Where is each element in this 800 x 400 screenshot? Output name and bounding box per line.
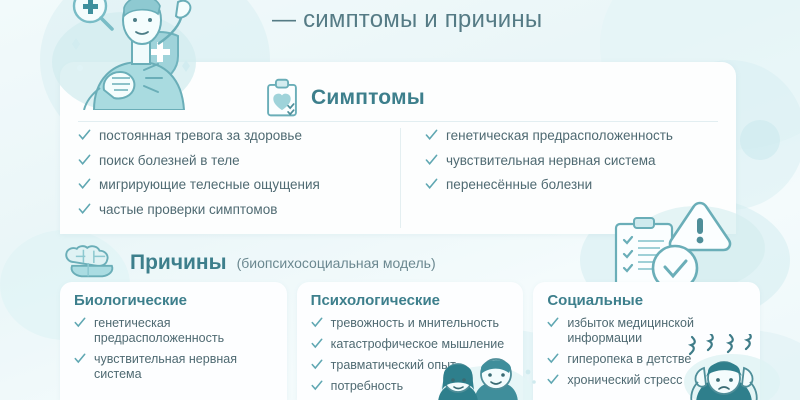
causes-cards: Биологические генетическая предрасположе… — [60, 282, 760, 400]
check-icon — [311, 380, 323, 392]
list-item-label: генетическая предрасположенность — [94, 316, 273, 346]
causes-section-header: Причины (биопсихосоциальная модель) — [62, 245, 436, 281]
brain-icon — [62, 245, 120, 281]
list-item: генетическая предрасположенность — [74, 316, 273, 346]
worried-man-chest-pain-illustration — [32, 0, 212, 110]
list-item: мигрирующие телесные ощущения — [78, 177, 400, 193]
list-item-label: хронический стресс — [567, 373, 682, 388]
check-icon — [425, 178, 438, 191]
stressed-person-illustration — [676, 334, 788, 400]
check-icon — [78, 178, 91, 191]
list-item-label: катастрофическое мышление — [331, 337, 505, 352]
symptoms-section-header: Симптомы — [265, 78, 425, 118]
list-item: постоянная тревога за здоровье — [78, 128, 400, 144]
list-item: катастрофическое мышление — [311, 337, 510, 352]
list-item-label: мигрирующие телесные ощущения — [99, 177, 320, 193]
list-item-label: чувствительная нервная система — [94, 352, 273, 382]
clipboard-checklist-warning-illustration — [602, 196, 777, 296]
list-item: тревожность и мнительность — [311, 316, 510, 331]
check-icon — [311, 317, 323, 329]
list-item: чувствительная нервная система — [74, 352, 273, 382]
check-icon — [311, 359, 323, 371]
check-icon — [74, 317, 86, 329]
check-icon — [425, 129, 438, 142]
list-item-label: частые проверки симптомов — [99, 202, 277, 218]
causes-header-note: (биопсихосоциальная модель) — [237, 255, 436, 271]
list-item-label: чувствительная нервная система — [446, 153, 656, 169]
check-icon — [547, 317, 559, 329]
list-item-label: тревожность и мнительность — [331, 316, 499, 331]
symptoms-header-label: Симптомы — [311, 86, 425, 110]
clipboard-heart-icon — [265, 78, 299, 118]
list-item: чувствительная нервная система — [425, 153, 736, 169]
check-icon — [311, 338, 323, 350]
list-item: перенесённые болезни — [425, 177, 736, 193]
cause-card-title: Социальные — [547, 292, 746, 309]
list-item-label: постоянная тревога за здоровье — [99, 128, 302, 144]
list-item: генетическая предрасположенность — [425, 128, 736, 144]
symptoms-left-column: постоянная тревога за здоровье поиск бол… — [60, 128, 400, 228]
cause-card-title: Психологические — [311, 292, 510, 309]
symptoms-divider — [78, 121, 718, 122]
check-icon — [547, 374, 559, 386]
infographic-canvas: — симптомы и причины — [0, 0, 800, 400]
couple-illustration — [424, 352, 544, 400]
list-item: частые проверки симптомов — [78, 202, 400, 218]
cause-card-biological: Биологические генетическая предрасположе… — [60, 282, 287, 400]
list-item-label: генетическая предрасположенность — [446, 128, 673, 144]
check-icon — [547, 353, 559, 365]
check-icon — [78, 154, 91, 167]
check-icon — [78, 129, 91, 142]
list-item-label: гиперопека в детстве — [567, 352, 691, 367]
background-blob — [740, 120, 780, 160]
list-item: поиск болезней в теле — [78, 153, 400, 169]
list-item-label: потребность — [331, 379, 403, 394]
causes-header-label: Причины — [130, 251, 227, 275]
check-icon — [78, 203, 91, 216]
cause-card-title: Биологические — [74, 292, 273, 309]
check-icon — [74, 353, 86, 365]
page-title: — симптомы и причины — [272, 6, 542, 34]
check-icon — [425, 154, 438, 167]
list-item-label: поиск болезней в теле — [99, 153, 240, 169]
list-item-label: перенесённые болезни — [446, 177, 592, 193]
